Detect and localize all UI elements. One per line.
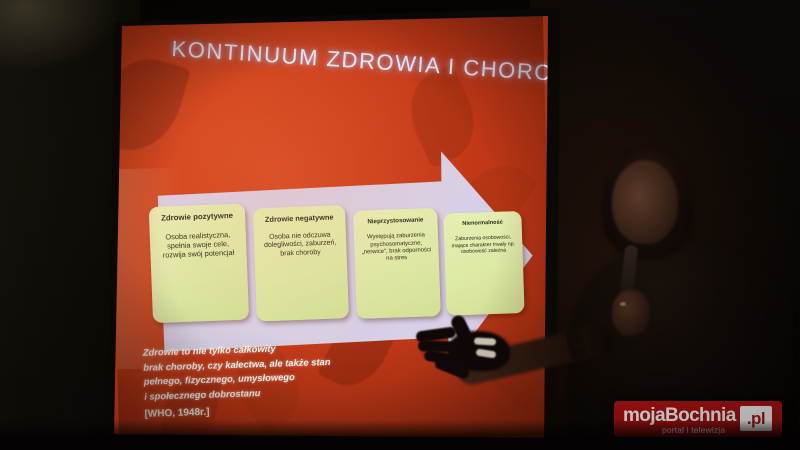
presenter-ring bbox=[620, 302, 626, 306]
stage-box-title: Nienormalność bbox=[449, 219, 517, 228]
stage-box-group: Zdrowie pozytywne Osoba realistyczna, sp… bbox=[147, 187, 530, 336]
stage-box-body: Osoba realistyczna, spełnia swoje cele, … bbox=[155, 230, 242, 261]
stage-box-title: Zdrowie pozytywne bbox=[154, 212, 240, 224]
slide-title: KONTINUUM ZDROWIA I CHOROBY bbox=[171, 36, 548, 86]
finger bbox=[418, 340, 462, 353]
stage-box: Zdrowie negatywne Osoba nie odczuwa dole… bbox=[253, 205, 349, 321]
stage-box: Nieprzystosowanie Występują zaburzenia p… bbox=[353, 208, 441, 319]
presentation-photo: KONTINUUM ZDROWIA I CHOROBY Zdrowie pozy… bbox=[0, 0, 800, 450]
source-citation: [WHO, 1948r.] bbox=[144, 407, 209, 420]
ceiling-light-glow bbox=[0, 0, 120, 70]
leaf-decoration-icon bbox=[114, 47, 191, 161]
floor-shadow bbox=[0, 420, 800, 450]
presenter-hand-holding-mic bbox=[612, 290, 650, 336]
presenter-face bbox=[612, 160, 678, 244]
stage-box: Nienormalność Zaburzenia osobowości, maj… bbox=[443, 211, 524, 316]
stage-box: Zdrowie pozytywne Osoba realistyczna, sp… bbox=[149, 203, 249, 323]
stage-box-body: Zaburzenia osobowości, mające charakter … bbox=[449, 235, 518, 257]
stage-box-body: Osoba nie odczuwa dolegliwości, zaburzeń… bbox=[259, 231, 342, 260]
stage-box-title: Zdrowie negatywne bbox=[258, 213, 340, 225]
stage-box-body: Występują zaburzenia psychosomatyczne, „… bbox=[359, 232, 434, 264]
finger-highlight bbox=[474, 337, 496, 345]
stage-box-title: Nieprzystosowanie bbox=[358, 216, 432, 226]
